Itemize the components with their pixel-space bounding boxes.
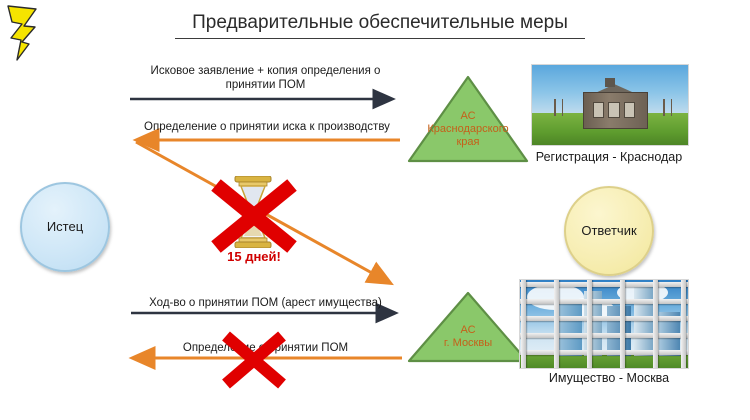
red-cross-icon-center (208, 179, 300, 253)
page-title: Предварительные обеспечительные меры (175, 12, 585, 39)
flow-label-claim-out: Исковое заявление + копия определения о … (128, 64, 403, 93)
bar-v-6 (681, 280, 686, 368)
timer-label: 15 дней! (196, 249, 312, 264)
property-greenery (520, 354, 688, 368)
slide-canvas: Предварительные обеспечительные меры Иск… (0, 0, 750, 420)
tower-1 (557, 301, 582, 356)
lightning-bolt-icon (2, 2, 58, 64)
tree-left-icon (554, 99, 556, 117)
bar-v-2 (554, 280, 559, 368)
flow-label-claim-accepted: Определение о принятии иска к производст… (128, 120, 406, 134)
bar-h-2 (520, 299, 688, 304)
bar-v-3 (587, 280, 592, 368)
tree-right-icon (663, 99, 665, 117)
house-window-3 (624, 102, 635, 118)
bar-v-4 (620, 280, 625, 368)
house-chimney (605, 78, 614, 88)
photo-house-caption: Регистрация - Краснодар (511, 150, 707, 164)
tree-right2-icon (671, 99, 672, 117)
actor-plaintiff[interactable]: Истец (20, 182, 110, 272)
bar-h-4 (520, 333, 688, 338)
bar-v-1 (521, 280, 526, 368)
photo-house (531, 64, 689, 146)
tree-left2-icon (562, 99, 563, 117)
bar-v-5 (653, 280, 658, 368)
actor-defendant[interactable]: Ответчик (564, 186, 654, 276)
house-window-2 (608, 102, 619, 118)
actor-plaintiff-label: Истец (47, 220, 83, 234)
bar-h-1 (520, 282, 688, 287)
house-window-1 (593, 102, 604, 118)
photo-property-caption: Имущество - Москва (511, 371, 707, 385)
bar-h-5 (520, 350, 688, 355)
court-moscow[interactable]: АС г. Москвы (406, 290, 530, 364)
bar-h-3 (520, 316, 688, 321)
actor-defendant-label: Ответчик (581, 224, 636, 238)
photo-property (519, 279, 689, 369)
flow-label-motion-out: Ход-во о принятии ПОМ (арест имущества) (128, 296, 403, 310)
red-cross-icon-bottom (219, 331, 289, 389)
